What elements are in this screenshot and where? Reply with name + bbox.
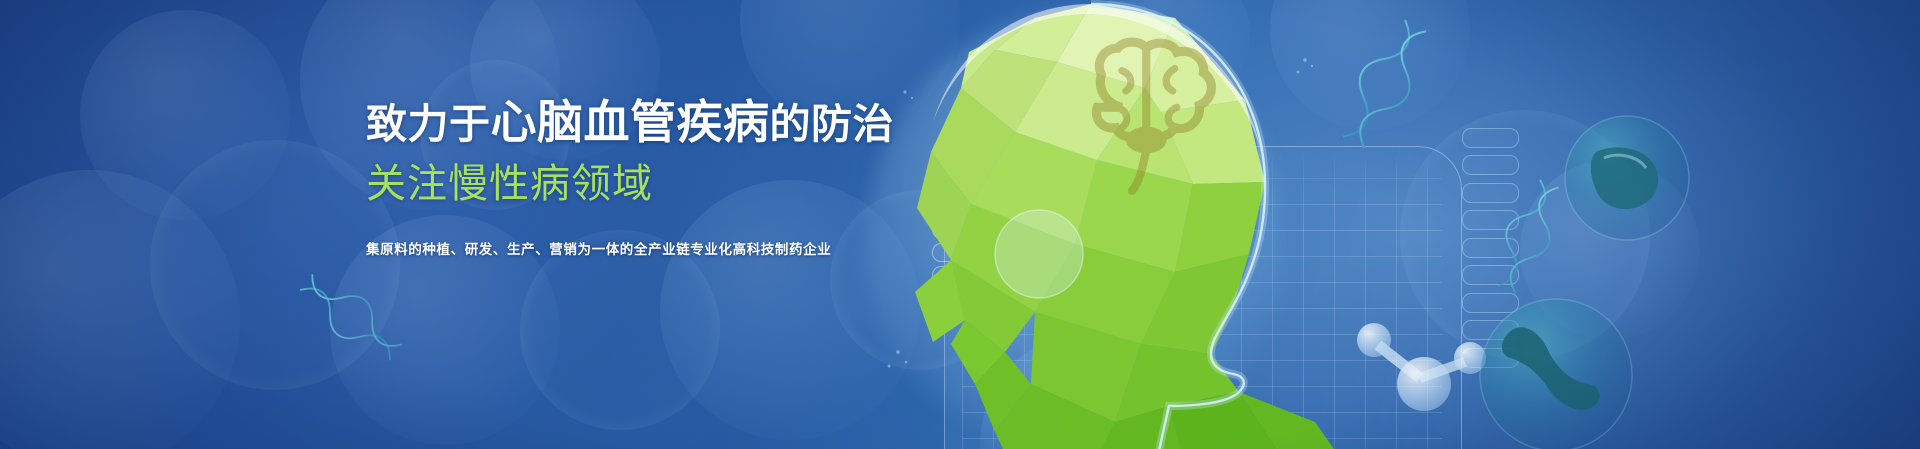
headline-prefix: 致力于 [366,101,491,147]
banner-subline: 关注慢性病领域 [366,160,1066,208]
hero-banner: 致力于心脑血管疾病的防治 关注慢性病领域 集原料的种植、研发、生产、营销为一体的… [0,0,1920,449]
banner-headline: 致力于心脑血管疾病的防治 [366,94,1066,150]
headline-suffix: 的防治 [770,101,895,147]
banner-copy: 致力于心脑血管疾病的防治 关注慢性病领域 集原料的种植、研发、生产、营销为一体的… [366,94,1066,258]
banner-tagline: 集原料的种植、研发、生产、营销为一体的全产业链专业化高科技制药企业 [366,238,1066,258]
headline-emphasis: 心脑血管疾病 [491,96,770,148]
